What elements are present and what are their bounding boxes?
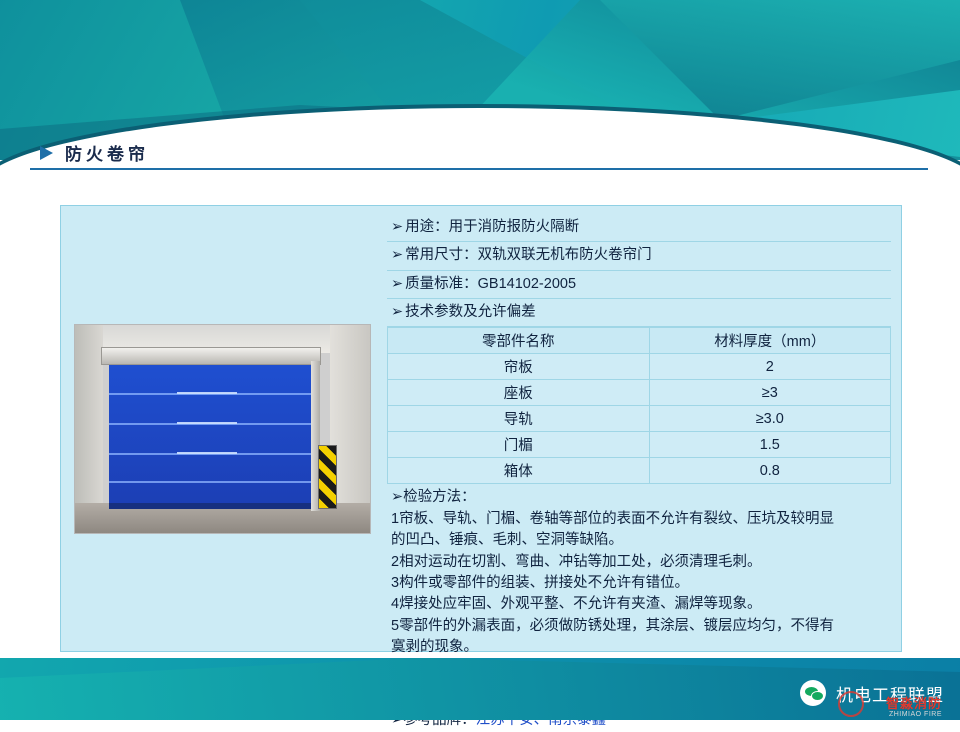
table-row: 导轨 ≥3.0 bbox=[388, 406, 891, 432]
inspection-line: 3构件或零部件的组装、拼接处不允许有错位。 bbox=[391, 573, 887, 594]
photo-wall-left bbox=[75, 325, 103, 533]
watermark-badge-icon bbox=[838, 691, 864, 717]
inspection-line: 5零部件的外漏表面，必须做防锈处理，其涂层、镀层应均匀，不得有 bbox=[391, 616, 887, 637]
inspection-line: 1帘板、导轨、门楣、卷轴等部位的表面不允许有裂纹、压坑及较明显 bbox=[391, 509, 887, 530]
table-header-thickness: 材料厚度（mm） bbox=[649, 328, 890, 354]
photo-door-bottom-rail bbox=[109, 503, 311, 509]
table-row: 门楣 1.5 bbox=[388, 432, 891, 458]
spec-row-usage: ➢用途：用于消防报防火隔断 bbox=[387, 214, 891, 242]
photo-door-slat bbox=[109, 481, 311, 483]
triangle-bullet-icon bbox=[40, 146, 53, 160]
slide-footer: 机电工程联盟 智淼消防 ZHIMIAO FIRE bbox=[0, 658, 960, 720]
table-cell-part: 导轨 bbox=[388, 406, 650, 432]
table-header-row: 零部件名称 材料厚度（mm） bbox=[388, 328, 891, 354]
bullet-arrow-icon: ➢ bbox=[391, 276, 403, 292]
photo-lintel-beam bbox=[101, 347, 321, 365]
spec-row-standard-text: 质量标准：GB14102-2005 bbox=[405, 276, 576, 292]
table-header-part-name: 零部件名称 bbox=[388, 328, 650, 354]
inspection-line: 寞剥的现象。 bbox=[391, 637, 887, 658]
inspection-heading: ➢检验方法： bbox=[391, 487, 887, 508]
table-cell-thickness: 1.5 bbox=[649, 432, 890, 458]
page-title-text: 防火卷帘 bbox=[65, 140, 149, 165]
inspection-line: 4焊接处应牢固、外观平整、不允许有夹渣、漏焊等现象。 bbox=[391, 594, 887, 615]
table-row: 箱体 0.8 bbox=[388, 458, 891, 484]
table-cell-thickness: ≥3.0 bbox=[649, 406, 890, 432]
watermark-stamp-sub: ZHIMIAO FIRE bbox=[886, 711, 942, 718]
spec-row-standard: ➢质量标准：GB14102-2005 bbox=[387, 271, 891, 299]
table-cell-thickness: ≥3 bbox=[649, 380, 890, 406]
spec-row-params-text: 技术参数及允许偏差 bbox=[405, 304, 536, 320]
bullet-arrow-icon: ➢ bbox=[391, 219, 403, 235]
content-card: ➢用途：用于消防报防火隔断 ➢常用尺寸：双轨双联无机布防火卷帘门 ➢质量标准：G… bbox=[60, 205, 902, 652]
photo-shutter-door bbox=[109, 365, 311, 505]
photo-hazard-stripe bbox=[318, 445, 337, 509]
table-cell-thickness: 2 bbox=[649, 354, 890, 380]
table-cell-thickness: 0.8 bbox=[649, 458, 890, 484]
title-underline bbox=[30, 168, 928, 170]
spec-row-usage-text: 用途：用于消防报防火隔断 bbox=[405, 219, 579, 235]
table-cell-part: 门楣 bbox=[388, 432, 650, 458]
table-row: 座板 ≥3 bbox=[388, 380, 891, 406]
spec-row-size-text: 常用尺寸：双轨双联无机布防火卷帘门 bbox=[405, 247, 652, 263]
spec-panel: ➢用途：用于消防报防火隔断 ➢常用尺寸：双轨双联无机布防火卷帘门 ➢质量标准：G… bbox=[383, 206, 901, 651]
bullet-arrow-icon: ➢ bbox=[391, 247, 403, 263]
watermark-stamp: 智淼消防 ZHIMIAO FIRE bbox=[886, 693, 942, 718]
spec-row-params: ➢技术参数及允许偏差 bbox=[387, 299, 891, 327]
spec-table: 零部件名称 材料厚度（mm） 帘板 2 座板 ≥3 导轨 ≥3.0 门楣 1 bbox=[387, 327, 891, 484]
page-title: 防火卷帘 bbox=[40, 140, 149, 165]
photo-door-highlight bbox=[177, 422, 237, 424]
table-cell-part: 帘板 bbox=[388, 354, 650, 380]
inspection-line: 的凹凸、锤痕、毛刺、空洞等缺陷。 bbox=[391, 530, 887, 551]
inspection-line: 2相对运动在切割、弯曲、冲钻等加工处，必须清理毛刺。 bbox=[391, 552, 887, 573]
table-cell-part: 座板 bbox=[388, 380, 650, 406]
table-cell-part: 箱体 bbox=[388, 458, 650, 484]
wechat-icon bbox=[800, 680, 826, 706]
bullet-arrow-icon: ➢ bbox=[391, 304, 403, 320]
table-row: 帘板 2 bbox=[388, 354, 891, 380]
photo-door-highlight bbox=[177, 452, 237, 454]
photo-panel bbox=[61, 206, 383, 651]
spec-row-size: ➢常用尺寸：双轨双联无机布防火卷帘门 bbox=[387, 242, 891, 270]
photo-door-highlight bbox=[177, 392, 237, 394]
watermark-stamp-main: 智淼消防 bbox=[886, 693, 942, 712]
fire-rolling-shutter-photo bbox=[74, 324, 371, 534]
